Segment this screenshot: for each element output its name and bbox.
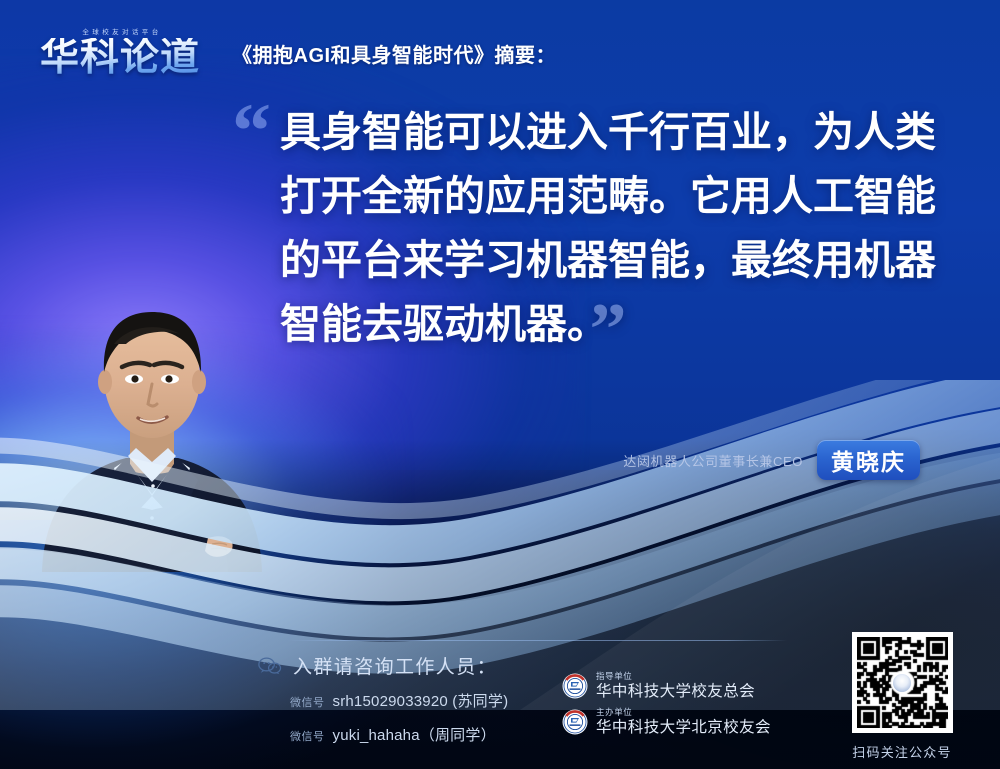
qr-center-logo-icon [892,673,912,693]
quote-block: “ 具身智能可以进入千行百业，为人类打开全新的应用范畴。它用人工智能的平台来学习… [232,100,962,356]
contact-title: 入群请咨询工作人员： [293,652,497,679]
org-name: 华中科技大学校友总会 [596,684,755,700]
speaker-name-badge: 黄晓庆 [817,440,920,480]
speaker-role: 达闼机器人公司董事长兼CEO [623,451,803,470]
contact-label: 微信号 [290,728,325,744]
org-kind: 指导单位 [596,672,755,681]
footer-divider [287,640,787,641]
quote-text: 具身智能可以进入千行百业，为人类打开全新的应用范畴。它用人工智能的平台来学习机器… [280,100,962,356]
contact-section: 入群请咨询工作人员： 微信号 srh15029033920 (苏同学) 微信号 … [258,652,598,758]
qr-code[interactable] [852,632,953,733]
qr-caption: 扫码关注公众号 [841,742,963,761]
contact-value[interactable]: yuki_hahaha（周同学） [333,724,496,745]
contact-header: 入群请咨询工作人员： [258,652,598,679]
org-text: 指导单位 华中科技大学校友总会 [596,672,755,699]
org-name: 华中科技大学北京校友会 [596,720,771,736]
org-row: 主办单位 华中科技大学北京校友会 [562,708,771,735]
header: 全球校友对话平台 华科论道 《拥抱AGI和具身智能时代》摘要： [0,0,1000,92]
brand-logo[interactable]: 全球校友对话平台 华科论道 [22,15,218,77]
contact-row: 微信号 srh15029033920 (苏同学) [290,690,598,711]
org-text: 主办单位 华中科技大学北京校友会 [596,708,771,735]
hust-logo-icon [562,673,588,699]
organizations: 指导单位 华中科技大学校友总会 主办单位 华中科技大学北京校友会 [562,672,771,744]
org-kind: 主办单位 [596,708,771,717]
wechat-icon [258,657,282,675]
poster-canvas: 全球校友对话平台 华科论道 《拥抱AGI和具身智能时代》摘要： “ 具身智能可以… [0,0,1000,769]
quote-close-mark: ” [590,289,627,371]
logo-wordmark: 华科论道 [40,38,200,77]
qr-section: 扫码关注公众号 [841,632,963,761]
org-row: 指导单位 华中科技大学校友总会 [562,672,771,699]
logo-tagline: 全球校友对话平台 [82,26,161,36]
page-title: 《拥抱AGI和具身智能时代》摘要： [232,25,556,68]
contact-label: 微信号 [290,694,325,710]
quote-open-mark: “ [232,104,271,159]
contact-value[interactable]: srh15029033920 (苏同学) [333,690,509,711]
attribution: 达闼机器人公司董事长兼CEO 黄晓庆 [600,438,920,482]
hust-logo-icon [562,709,588,735]
contact-row: 微信号 yuki_hahaha（周同学） [290,724,598,745]
